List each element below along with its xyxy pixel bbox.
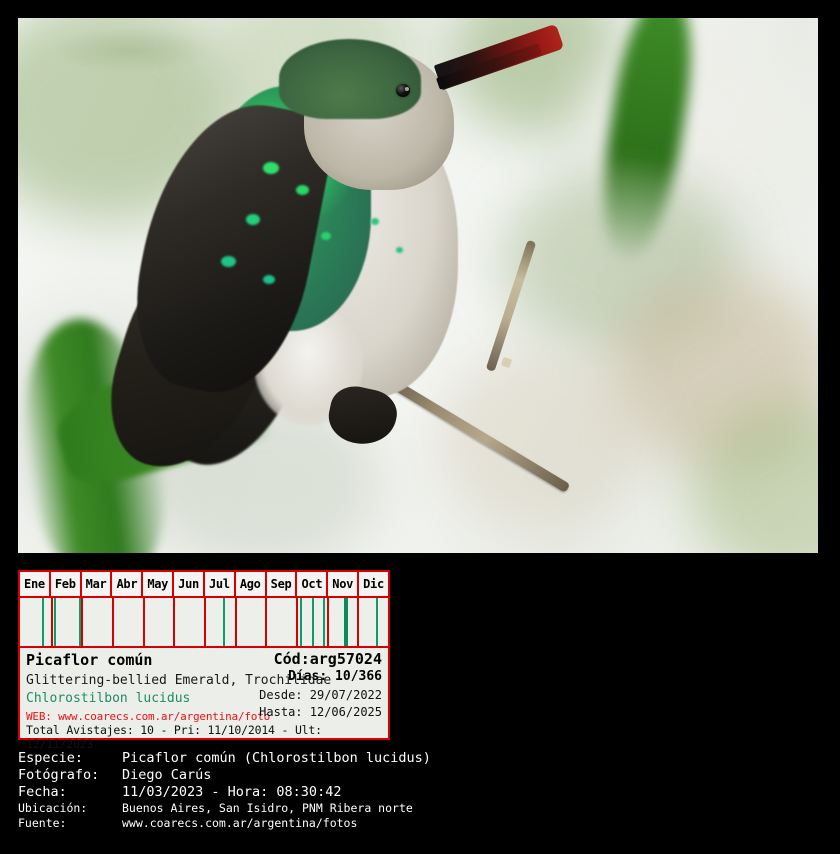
species-name-es: Picaflor común [26,651,152,669]
month-divider [143,598,145,646]
meta-label: Ubicación: [18,801,122,815]
iridescent-spangle [396,247,403,253]
photo-canvas [18,18,818,553]
month-cell-abr: Abr [112,572,143,596]
sighting-mark [42,598,44,646]
iridescent-spangle [246,214,260,225]
species-name-scientific: Chlorostilbon lucidus [26,691,190,706]
date-from: Desde: 29/07/2022 [259,688,382,702]
sighting-mark [376,598,378,646]
month-cell-sep: Sep [267,572,298,596]
month-cell-ene: Ene [20,572,51,596]
row-sci-desde: Chlorostilbon lucidus Desde: 29/07/2022 [26,687,382,705]
sighting-timeline-strip [20,598,388,648]
month-cell-may: May [143,572,174,596]
month-divider [296,598,298,646]
row-web-hasta: WEB: www.coarecs.com.ar/argentina/foto H… [26,705,382,722]
row-name-days: Glittering-bellied Emerald, Trochilidae … [26,669,382,687]
month-divider [204,598,206,646]
month-cell-mar: Mar [82,572,113,596]
meta-value: Diego Carús [122,767,211,783]
sighting-mark [344,598,348,646]
month-divider [235,598,237,646]
web-link[interactable]: WEB: www.coarecs.com.ar/argentina/foto [26,710,270,723]
sighting-totals: Total Avistajes: 10 - Pri: 11/10/2014 - … [26,722,382,751]
hummingbird [138,39,554,510]
sighting-mark [312,598,314,646]
month-cell-jun: Jun [174,572,205,596]
month-divider [327,598,329,646]
meta-value: 11/03/2023 - Hora: 08:30:42 [122,784,341,800]
month-divider [51,598,53,646]
bird-photo [18,18,818,553]
row-name-code: Picaflor común Cód:arg57024 [26,650,382,669]
iridescent-spangle [263,275,275,284]
date-to: Hasta: 12/06/2025 [259,705,382,719]
month-cell-oct: Oct [297,572,328,596]
meta-value: Picaflor común (Chlorostilbon lucidus) [122,750,431,766]
meta-row-fuente: Fuente: www.coarecs.com.ar/argentina/fot… [18,816,822,830]
meta-row-fotografo: Fotógrafo: Diego Carús [18,767,822,783]
meta-label: Fuente: [18,816,122,830]
photo-metadata: Especie: Picaflor común (Chlorostilbon l… [18,750,822,831]
meta-row-especie: Especie: Picaflor común (Chlorostilbon l… [18,750,822,766]
days-counter: Días: 10/366 [288,669,382,684]
month-divider [173,598,175,646]
month-cell-jul: Jul [205,572,236,596]
meta-value: Buenos Aires, San Isidro, PNM Ribera nor… [122,801,413,815]
meta-row-fecha: Fecha: 11/03/2023 - Hora: 08:30:42 [18,784,822,800]
species-name-en: Glittering-bellied Emerald, Trochilidae [26,673,331,688]
month-divider [81,598,83,646]
month-cell-feb: Feb [51,572,82,596]
month-cell-dic: Dic [359,572,388,596]
month-divider [265,598,267,646]
iridescent-spangle [263,162,279,174]
sighting-mark [223,598,225,646]
month-divider [112,598,114,646]
species-info-card: Ene Feb Mar Abr May Jun Jul Ago Sep Oct … [18,570,390,740]
bird-crown [279,39,420,119]
month-cell-ago: Ago [236,572,267,596]
month-divider [357,598,359,646]
sighting-mark [300,598,302,646]
month-cell-nov: Nov [328,572,359,596]
meta-row-ubicacion: Ubicación: Buenos Aires, San Isidro, PNM… [18,801,822,815]
species-code: Cód:arg57024 [274,650,382,668]
sighting-mark [79,598,81,646]
sighting-mark [323,598,325,646]
meta-label: Especie: [18,750,122,766]
sighting-mark [54,598,56,646]
meta-label: Fecha: [18,784,122,800]
species-details: Picaflor común Cód:arg57024 Glittering-b… [20,648,388,751]
meta-label: Fotógrafo: [18,767,122,783]
meta-value[interactable]: www.coarecs.com.ar/argentina/fotos [122,816,357,830]
month-header-row: Ene Feb Mar Abr May Jun Jul Ago Sep Oct … [20,572,388,598]
